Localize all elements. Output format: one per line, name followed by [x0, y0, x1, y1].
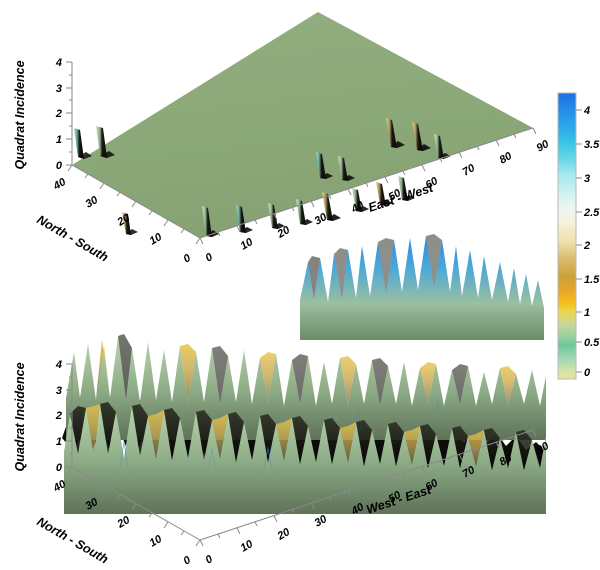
colorbar-tick-2-5: 2.5 [583, 207, 600, 219]
colorbar-tick-4: 4 [583, 105, 590, 117]
colorbar-tick-3-5: 3.5 [584, 139, 600, 151]
colorbar-tick-1-5: 1.5 [584, 274, 600, 286]
colorbar-tick-3: 3 [584, 173, 590, 185]
colorbar-tick-2: 2 [583, 240, 590, 252]
colorbar-tick-1: 1 [584, 307, 590, 319]
colorbar-tick-0-5: 0.5 [584, 337, 600, 349]
colorbar-gradient [558, 93, 576, 379]
colorbar-tick-0: 0 [584, 367, 591, 379]
colorbar-ticks: 4 3.5 3 2.5 2 1.5 1 0.5 0 [576, 105, 600, 379]
colorbar-group: 4 3.5 3 2.5 2 1.5 1 0.5 0 [0, 0, 600, 570]
figure-canvas: 0 1 2 3 4 Quadrat Incidence 40 30 20 10 … [0, 0, 600, 570]
